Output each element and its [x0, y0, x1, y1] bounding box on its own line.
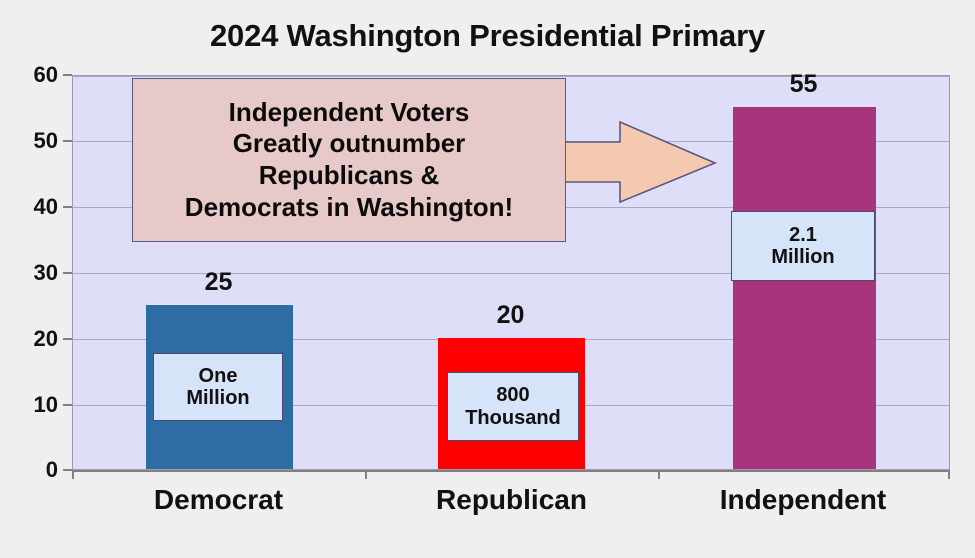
bar-value-republican: 20: [437, 301, 584, 330]
page-title: 2024 Washington Presidential Primary: [0, 18, 975, 54]
y-tick-mark-10: [63, 404, 72, 406]
annotation-line-2: Greatly outnumber: [233, 128, 466, 160]
y-tick-label-20: 20: [0, 326, 58, 352]
y-tick-label-0: 0: [0, 457, 58, 483]
bar-value-democrat: 25: [145, 268, 292, 297]
x-axis-label-republican: Republican: [365, 484, 658, 516]
y-tick-label-50: 50: [0, 128, 58, 154]
chart-canvas: 2024 Washington Presidential Primary One…: [0, 0, 975, 558]
y-tick-label-10: 10: [0, 392, 58, 418]
y-tick-mark-60: [63, 74, 72, 76]
y-tick-label-30: 30: [0, 260, 58, 286]
annotation-line-4: Democrats in Washington!: [185, 192, 513, 224]
annotation-line-1: Independent Voters: [229, 97, 470, 129]
annotation-callout: Independent Voters Greatly outnumber Rep…: [132, 78, 566, 242]
y-tick-label-60: 60: [0, 62, 58, 88]
bar-value-independent: 55: [732, 70, 875, 99]
y-tick-mark-50: [63, 140, 72, 142]
y-tick-mark-30: [63, 272, 72, 274]
x-tick-mark-left: [72, 470, 74, 479]
x-tick-mark-1: [365, 470, 367, 479]
x-axis-label-independent: Independent: [658, 484, 948, 516]
y-tick-label-40: 40: [0, 194, 58, 220]
x-axis-line: [72, 470, 950, 472]
annotation-arrow-icon: [560, 118, 718, 206]
x-tick-mark-right: [948, 470, 950, 479]
annotation-line-3: Republicans &: [259, 160, 440, 192]
x-tick-mark-2: [658, 470, 660, 479]
y-tick-mark-40: [63, 206, 72, 208]
y-tick-mark-0: [63, 469, 72, 471]
y-tick-mark-20: [63, 338, 72, 340]
x-axis-label-democrat: Democrat: [72, 484, 365, 516]
